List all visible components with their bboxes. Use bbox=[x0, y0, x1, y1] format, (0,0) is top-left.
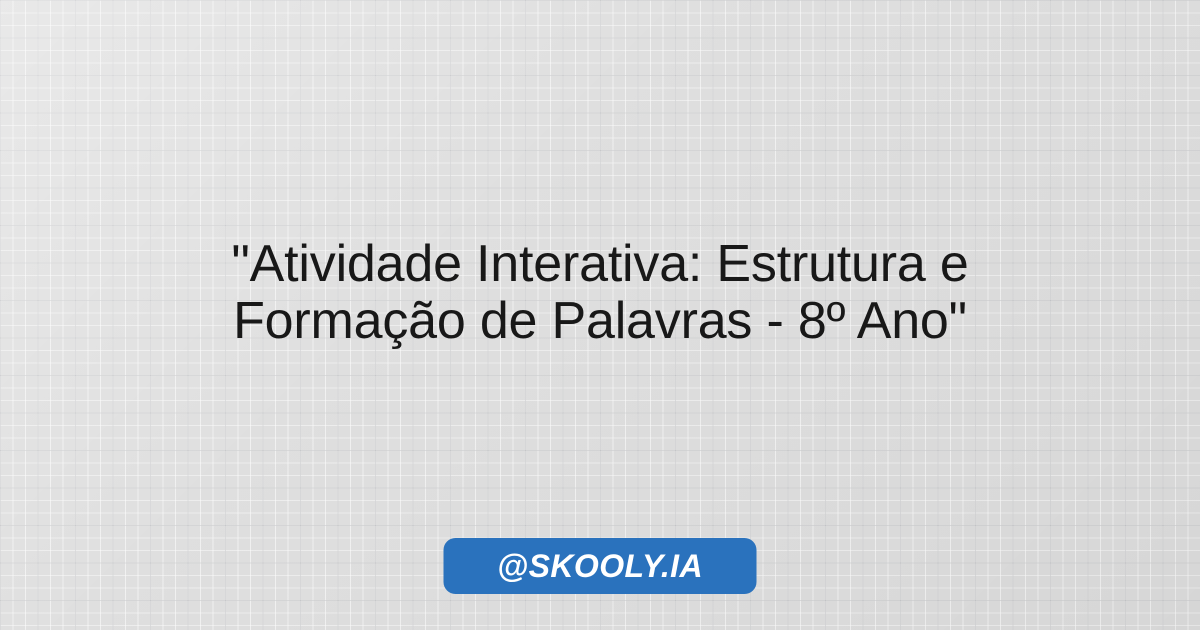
title-block: "Atividade Interativa: Estrutura e Forma… bbox=[0, 236, 1200, 350]
watermark-badge[interactable]: @SKOOLY.IA bbox=[444, 538, 757, 594]
watermark-label: @SKOOLY.IA bbox=[497, 548, 703, 585]
og-card: "Atividade Interativa: Estrutura e Forma… bbox=[0, 0, 1200, 630]
page-title: "Atividade Interativa: Estrutura e Forma… bbox=[60, 236, 1140, 350]
